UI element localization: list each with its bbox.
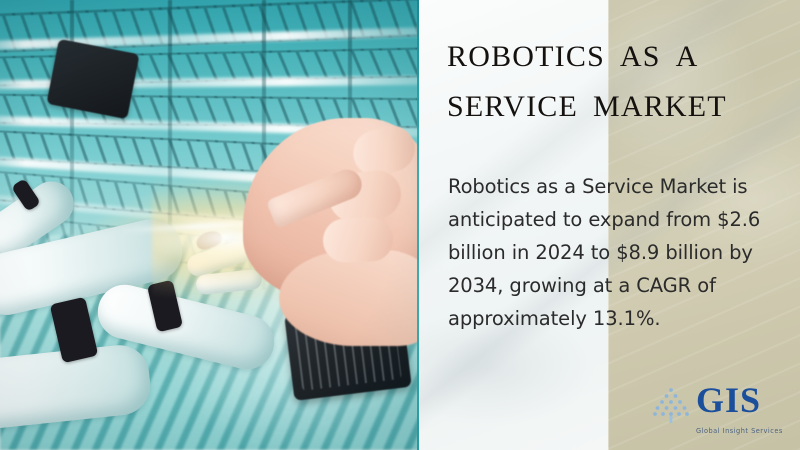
market-summary-text: Robotics as a Service Market is anticipa… — [448, 170, 793, 335]
poster-canvas: ROBOTICS AS A SERVICE MARKET Robotics as… — [0, 0, 800, 450]
title-line-2: SERVICE MARKET — [447, 78, 795, 128]
gis-logo[interactable]: GIS Global Insight Services — [648, 380, 788, 442]
page-title: ROBOTICS AS A SERVICE MARKET — [447, 28, 795, 128]
gis-logo-text: GIS Global Insight Services — [696, 380, 788, 438]
content-panel: ROBOTICS AS A SERVICE MARKET Robotics as… — [419, 0, 800, 450]
gis-tagline: Global Insight Services — [696, 427, 783, 435]
human-knuckle — [322, 217, 393, 263]
human-wrist — [279, 250, 419, 346]
title-line-1: ROBOTICS AS A — [447, 28, 795, 78]
gis-wordmark: GIS — [696, 380, 761, 420]
hero-photo — [0, 0, 419, 450]
gis-pyramid-dots-icon — [650, 384, 692, 426]
